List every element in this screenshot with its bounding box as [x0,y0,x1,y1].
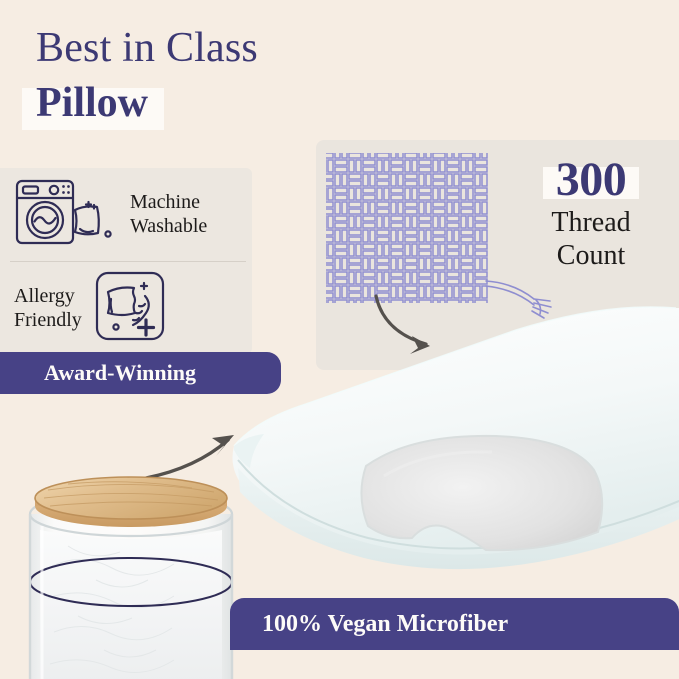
glass-jar-bamboo-lid-microfiber-fill [8,470,258,679]
title-line-1: Best in Class [36,24,456,74]
title-line-2-wrapper: Pillow [36,78,148,128]
thread-count-block: 300 Thread Count [515,155,667,272]
thread-count-number: 300 [556,155,627,205]
feature-machine-washable: Machine Washable [14,178,246,250]
award-winning-label: Award-Winning [44,360,196,386]
features-divider [10,261,246,262]
title-line-2: Pillow [36,78,148,128]
feature-machine-washable-label: Machine Washable [130,190,207,239]
curved-arrow-weave-to-pillow [370,292,460,367]
page-title: Best in Class Pillow [36,24,456,128]
thread-count-number-wrapper: 300 [556,155,627,205]
thread-count-label: Thread Count [515,207,667,271]
feature-allergy-friendly: Allergy Friendly [14,272,246,344]
vegan-microfiber-banner: 100% Vegan Microfiber [230,598,679,650]
washing-machine-pillow-icon [14,178,118,251]
feature-allergy-friendly-label: Allergy Friendly [14,284,82,333]
pillow-feather-allergy-icon [94,270,166,347]
vegan-microfiber-label: 100% Vegan Microfiber [262,611,508,638]
infographic-canvas: Best in Class Pillow [0,0,679,679]
award-winning-banner: Award-Winning [0,352,281,394]
